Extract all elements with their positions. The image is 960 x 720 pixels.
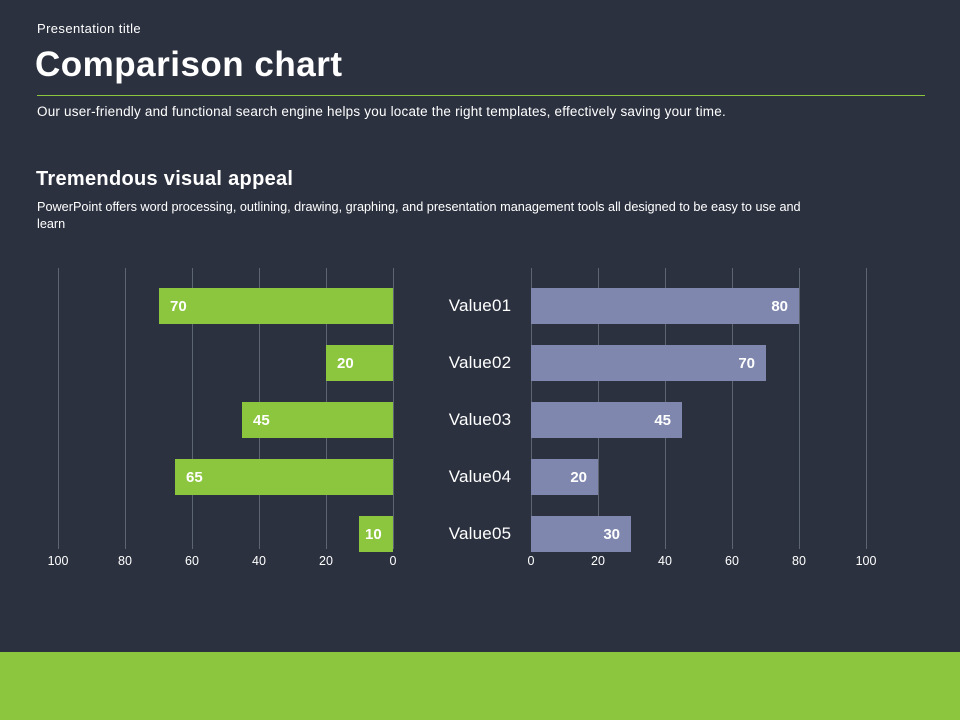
bar-row: 70 — [58, 288, 436, 324]
bar-right-value03: 45 — [531, 402, 682, 438]
bar-right-value04: 20 — [531, 459, 598, 495]
axis-right: 0 20 40 60 80 100 — [524, 554, 902, 574]
bars-left: 70 20 45 65 — [58, 270, 436, 550]
bar-label: 20 — [326, 356, 365, 371]
bar-left-value05: 10 — [359, 516, 393, 552]
chart-panel-right: 80 70 45 20 — [524, 258, 902, 548]
category-value05: Value05 — [436, 516, 524, 552]
bar-label: 45 — [643, 413, 682, 428]
section-body: PowerPoint offers word processing, outli… — [37, 199, 827, 233]
bar-label: 10 — [359, 527, 388, 542]
bar-row: 20 — [524, 459, 902, 495]
axis-tick: 20 — [319, 554, 333, 568]
axis-tick: 40 — [252, 554, 266, 568]
axis-tick: 20 — [591, 554, 605, 568]
bar-label: 70 — [159, 299, 198, 314]
category-value02: Value02 — [436, 345, 524, 381]
axis-tick: 0 — [528, 554, 535, 568]
bar-right-value02: 70 — [531, 345, 766, 381]
presentation-kicker: Presentation title — [37, 21, 141, 36]
bar-row: 65 — [58, 459, 436, 495]
category-value03: Value03 — [436, 402, 524, 438]
bar-row: 10 — [58, 516, 436, 552]
category-value01: Value01 — [436, 288, 524, 324]
bars-right: 80 70 45 20 — [524, 270, 902, 550]
bar-row: 20 — [58, 345, 436, 381]
title-divider — [37, 95, 925, 96]
axis-left: 100 80 60 40 20 0 — [58, 554, 436, 574]
bar-row: 70 — [524, 345, 902, 381]
axis-tick: 60 — [725, 554, 739, 568]
bar-label: 20 — [559, 470, 598, 485]
axis-tick: 60 — [185, 554, 199, 568]
axis-tick: 100 — [856, 554, 877, 568]
axis-tick: 80 — [118, 554, 132, 568]
bar-row: 45 — [524, 402, 902, 438]
bar-left-value02: 20 — [326, 345, 393, 381]
slide: Presentation title Comparison chart Our … — [0, 0, 960, 720]
bar-left-value04: 65 — [175, 459, 393, 495]
comparison-chart: 70 20 45 65 — [0, 258, 960, 588]
page-subtitle: Our user-friendly and functional search … — [37, 104, 726, 119]
bar-label: 80 — [760, 299, 799, 314]
axis-tick: 40 — [658, 554, 672, 568]
axis-tick: 0 — [390, 554, 397, 568]
section-heading: Tremendous visual appeal — [36, 168, 293, 191]
axis-tick: 80 — [792, 554, 806, 568]
bar-row: 80 — [524, 288, 902, 324]
bar-right-value05: 30 — [531, 516, 631, 552]
bar-right-value01: 80 — [531, 288, 799, 324]
axis-tick: 100 — [48, 554, 69, 568]
category-labels: Value01 Value02 Value03 Value04 Value05 — [436, 270, 524, 550]
bar-label: 30 — [592, 527, 631, 542]
bar-row: 45 — [58, 402, 436, 438]
bar-label: 45 — [242, 413, 281, 428]
page-title: Comparison chart — [35, 45, 343, 85]
footer-band — [0, 652, 960, 720]
bar-row: 30 — [524, 516, 902, 552]
bar-left-value03: 45 — [242, 402, 393, 438]
bar-left-value01: 70 — [159, 288, 393, 324]
bar-label: 65 — [175, 470, 214, 485]
chart-panel-left: 70 20 45 65 — [58, 258, 436, 548]
bar-label: 70 — [727, 356, 766, 371]
category-value04: Value04 — [436, 459, 524, 495]
